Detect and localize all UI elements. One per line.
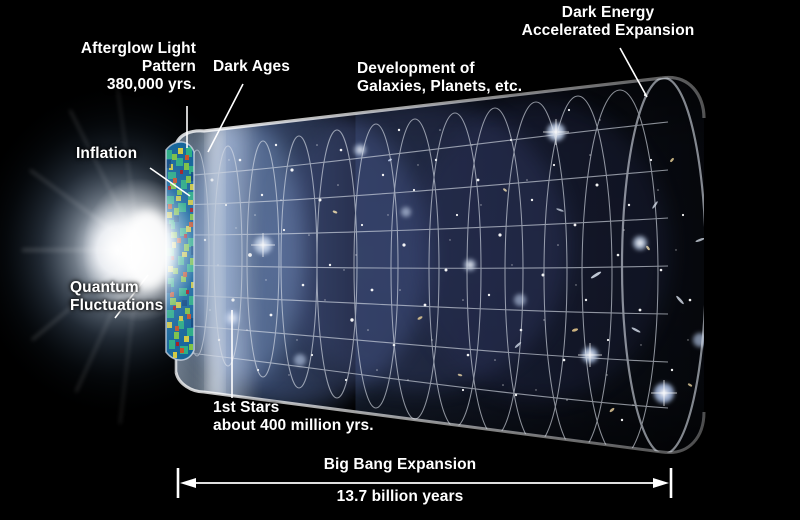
label-quantum-fluctuations: Quantum Fluctuations xyxy=(70,279,163,315)
label-afterglow-light-pattern: Afterglow Light Pattern 380,000 yrs. xyxy=(81,40,196,94)
label-development-of-galaxies: Development of Galaxies, Planets, etc. xyxy=(357,60,522,96)
label-duration: 13.7 billion years xyxy=(285,488,515,506)
universe-expansion-diagram: Afterglow Light Pattern 380,000 yrs. Dar… xyxy=(0,0,800,520)
label-dark-ages: Dark Ages xyxy=(213,58,290,76)
label-dark-energy-accelerated-expansion: Dark Energy Accelerated Expansion xyxy=(478,4,738,40)
label-inflation: Inflation xyxy=(76,145,137,163)
label-first-stars: 1st Stars about 400 million yrs. xyxy=(213,399,374,435)
label-big-bang-expansion: Big Bang Expansion xyxy=(285,456,515,474)
